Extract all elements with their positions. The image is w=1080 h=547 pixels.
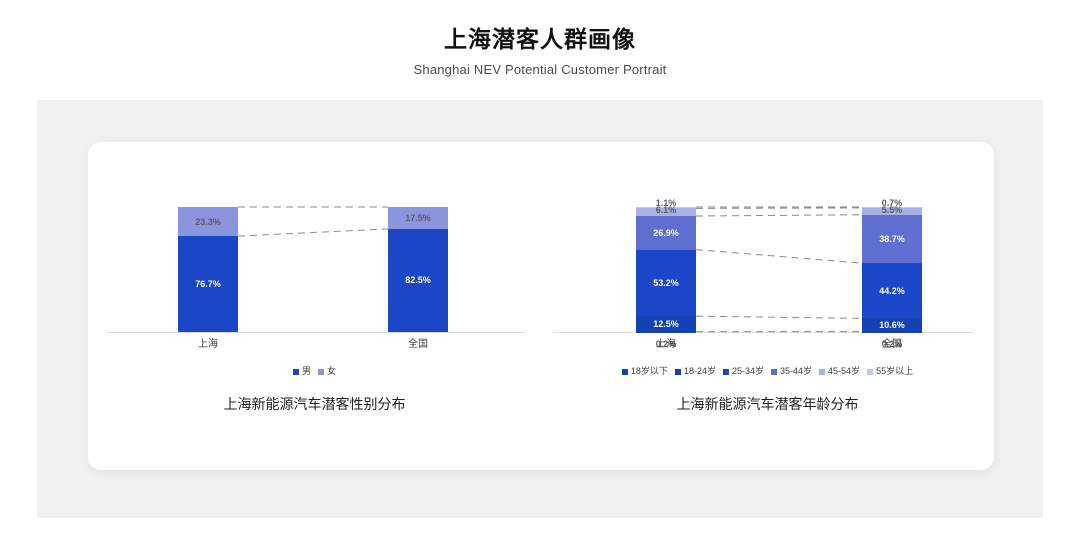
bar-segment-女: 23.3% [178, 207, 238, 236]
legend-label: 18-24岁 [684, 366, 716, 377]
bar-segment-18-24岁: 12.5% [636, 316, 696, 332]
segment-value-label: 76.7% [195, 279, 221, 289]
chart-gender-caption: 上海新能源汽车潜客性别分布 [88, 394, 541, 414]
page-title: 上海潜客人群画像 [0, 24, 1080, 54]
bar-上海: 1.1%6.1%26.9%53.2%12.5%0.2% [636, 207, 696, 332]
x-axis-line [106, 332, 526, 333]
slide-page: 上海潜客人群画像 Shanghai NEV Potential Customer… [0, 0, 1080, 547]
bar-全国: 17.5%82.5% [388, 207, 448, 332]
bar-segment-男: 76.7% [178, 236, 238, 332]
legend-label: 女 [327, 366, 336, 377]
legend-swatch-icon [723, 369, 729, 375]
chart-age-plot: 1.1%6.1%26.9%53.2%12.5%0.2%上海0.7%5.5%38.… [541, 142, 994, 392]
chart-gender-plot: 23.3%76.7%上海17.5%82.5%全国 [88, 142, 541, 392]
legend-label: 18岁以下 [631, 366, 668, 377]
legend-swatch-icon [867, 369, 873, 375]
bar-segment-35-44岁: 38.7% [862, 215, 922, 263]
legend-label: 45-54岁 [828, 366, 860, 377]
segment-value-label: 17.5% [405, 213, 431, 223]
legend-item-男[interactable]: 男 [293, 366, 311, 377]
legend-item-55岁以上[interactable]: 55岁以上 [867, 366, 913, 377]
chart-gender-connectors [88, 142, 541, 392]
segment-value-label: 12.5% [653, 319, 679, 329]
chart-age-legend: 18岁以下18-24岁25-34岁35-44岁45-54岁55岁以上 [541, 366, 994, 377]
charts-card: 23.3%76.7%上海17.5%82.5%全国 男女 上海新能源汽车潜客性别分… [88, 142, 994, 470]
segment-value-label: 23.3% [195, 217, 221, 227]
legend-swatch-icon [675, 369, 681, 375]
chart-age-connectors [541, 142, 994, 392]
chart-gender-legend: 男女 [88, 366, 541, 377]
segment-value-label: 6.1% [656, 205, 677, 215]
bar-上海: 23.3%76.7% [178, 207, 238, 332]
legend-item-18岁以下[interactable]: 18岁以下 [622, 366, 668, 377]
legend-label: 55岁以上 [876, 366, 913, 377]
legend-item-女[interactable]: 女 [318, 366, 336, 377]
bar-segment-女: 17.5% [388, 207, 448, 229]
header: 上海潜客人群画像 Shanghai NEV Potential Customer… [0, 24, 1080, 78]
legend-swatch-icon [771, 369, 777, 375]
legend-item-35-44岁[interactable]: 35-44岁 [771, 366, 812, 377]
segment-value-label: 38.7% [879, 234, 905, 244]
legend-label: 35-44岁 [780, 366, 812, 377]
chart-age: 1.1%6.1%26.9%53.2%12.5%0.2%上海0.7%5.5%38.… [541, 142, 994, 470]
segment-value-label: 53.2% [653, 278, 679, 288]
legend-swatch-icon [293, 369, 299, 375]
x-axis-label-上海: 上海 [621, 338, 711, 351]
segment-value-label: 5.5% [882, 205, 903, 215]
bar-全国: 0.7%5.5%38.7%44.2%10.6%0.2% [862, 207, 922, 332]
bar-segment-18-24岁: 10.6% [862, 318, 922, 331]
legend-label: 男 [302, 366, 311, 377]
legend-swatch-icon [819, 369, 825, 375]
segment-value-label: 82.5% [405, 275, 431, 285]
bar-segment-35-44岁: 26.9% [636, 216, 696, 250]
chart-gender: 23.3%76.7%上海17.5%82.5%全国 男女 上海新能源汽车潜客性别分… [88, 142, 541, 470]
legend-label: 25-34岁 [732, 366, 764, 377]
x-axis-label-全国: 全国 [847, 338, 937, 351]
legend-item-45-54岁[interactable]: 45-54岁 [819, 366, 860, 377]
x-axis-line [553, 332, 973, 333]
legend-item-18-24岁[interactable]: 18-24岁 [675, 366, 716, 377]
segment-value-label: 10.6% [879, 320, 905, 330]
bar-segment-25-34岁: 44.2% [862, 263, 922, 318]
bar-segment-男: 82.5% [388, 229, 448, 332]
x-axis-label-上海: 上海 [163, 338, 253, 351]
chart-age-caption: 上海新能源汽车潜客年龄分布 [541, 394, 994, 414]
legend-swatch-icon [622, 369, 628, 375]
bar-segment-25-34岁: 53.2% [636, 250, 696, 317]
x-axis-label-全国: 全国 [373, 338, 463, 351]
bar-segment-45-54岁: 5.5% [862, 208, 922, 215]
segment-value-label: 26.9% [653, 228, 679, 238]
bar-segment-45-54岁: 6.1% [636, 208, 696, 216]
legend-swatch-icon [318, 369, 324, 375]
legend-item-25-34岁[interactable]: 25-34岁 [723, 366, 764, 377]
page-subtitle: Shanghai NEV Potential Customer Portrait [0, 61, 1080, 78]
segment-value-label: 44.2% [879, 286, 905, 296]
